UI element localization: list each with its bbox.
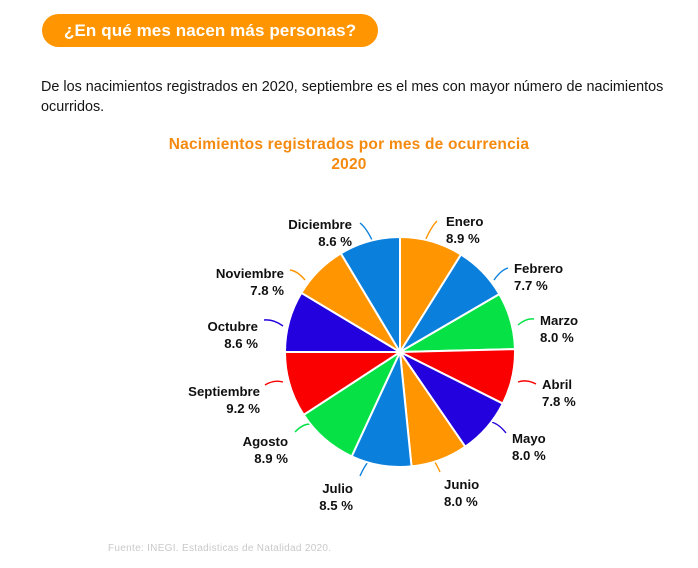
- callout-month-label: Septiembre: [0, 383, 260, 400]
- callout-diciembre: Diciembre8.6 %: [0, 216, 352, 250]
- callout-month-label: Noviembre: [0, 265, 284, 282]
- callout-percent-value: 8.9 %: [0, 450, 288, 467]
- callout-marzo: Marzo8.0 %: [540, 312, 578, 346]
- intro-paragraph: De los nacimientos registrados en 2020, …: [41, 77, 689, 117]
- pie-slices-group: [285, 237, 515, 467]
- leader-line-agosto: [295, 424, 310, 432]
- callout-percent-value: 8.0 %: [540, 329, 578, 346]
- leader-line-marzo: [518, 319, 534, 325]
- callout-month-label: Abril: [542, 376, 576, 393]
- leader-line-diciembre: [360, 223, 372, 240]
- callout-percent-value: 8.0 %: [444, 493, 479, 510]
- callout-month-label: Diciembre: [0, 216, 352, 233]
- callout-month-label: Octubre: [0, 318, 258, 335]
- leader-line-febrero: [494, 268, 508, 280]
- callout-month-label: Mayo: [512, 430, 546, 447]
- header-question-pill: ¿En qué mes nacen más personas?: [42, 14, 378, 47]
- source-note: Fuente: INEGI. Estadisticas de Natalidad…: [108, 543, 331, 554]
- callout-month-label: Agosto: [0, 433, 288, 450]
- callout-month-label: Febrero: [514, 260, 563, 277]
- callout-percent-value: 8.6 %: [0, 335, 258, 352]
- callout-month-label: Marzo: [540, 312, 578, 329]
- header-question-text: ¿En qué mes nacen más personas?: [64, 21, 356, 41]
- callout-noviembre: Noviembre7.8 %: [0, 265, 284, 299]
- callout-percent-value: 7.8 %: [542, 393, 576, 410]
- callout-percent-value: 8.0 %: [512, 447, 546, 464]
- callout-agosto: Agosto8.9 %: [0, 433, 288, 467]
- callout-month-label: Julio: [0, 480, 353, 497]
- callout-month-label: Enero: [446, 213, 483, 230]
- callout-percent-value: 7.7 %: [514, 277, 563, 294]
- callout-percent-value: 8.5 %: [0, 497, 353, 514]
- callout-junio: Junio8.0 %: [444, 476, 479, 510]
- leader-line-septiembre: [265, 381, 283, 385]
- leader-line-mayo: [491, 422, 506, 433]
- callout-febrero: Febrero7.7 %: [514, 260, 563, 294]
- callout-percent-value: 7.8 %: [0, 282, 284, 299]
- callout-octubre: Octubre8.6 %: [0, 318, 258, 352]
- callout-julio: Julio8.5 %: [0, 480, 353, 514]
- callout-percent-value: 8.9 %: [446, 230, 483, 247]
- callout-mayo: Mayo8.0 %: [512, 430, 546, 464]
- callout-percent-value: 8.6 %: [0, 233, 352, 250]
- leader-line-enero: [425, 221, 437, 241]
- leader-line-abril: [518, 381, 536, 384]
- callout-enero: Enero8.9 %: [446, 213, 483, 247]
- callout-septiembre: Septiembre9.2 %: [0, 383, 260, 417]
- leader-line-noviembre: [290, 270, 305, 280]
- callout-percent-value: 9.2 %: [0, 400, 260, 417]
- leader-line-octubre: [264, 320, 283, 326]
- callout-month-label: Junio: [444, 476, 479, 493]
- callout-abril: Abril7.8 %: [542, 376, 576, 410]
- pie-chart-figure: Nacimientos registrados por mes de ocurr…: [0, 128, 698, 528]
